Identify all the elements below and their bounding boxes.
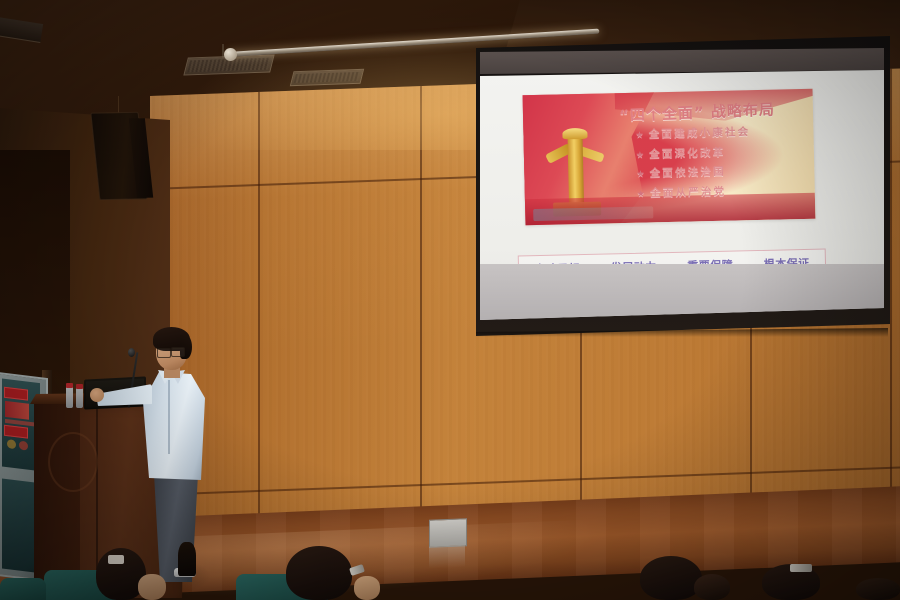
audience-head	[694, 574, 730, 600]
slide-poster-image: “四个全面” 战略布局 ★全面建成小康社会 ★全面深化改革 ★全面依法治国 ★全…	[523, 89, 816, 226]
hair-clip-icon	[790, 564, 812, 572]
projection-screen: “四个全面” 战略布局 ★全面建成小康社会 ★全面深化改革 ★全面依法治国 ★全…	[470, 36, 890, 336]
wall-seam	[420, 86, 422, 566]
water-bottle[interactable]	[76, 387, 83, 408]
slide-bullet-label: 全面依法治国	[650, 166, 726, 180]
poster-foreground-detail	[533, 206, 653, 221]
slide-bullet-list: ★全面建成小康社会 ★全面深化改革 ★全面依法治国 ★全面从严治党	[635, 123, 813, 205]
cabinet-label-icon	[4, 425, 28, 439]
cabinet-symbol-icon	[7, 439, 16, 449]
cabinet-symbol-icon	[19, 441, 28, 451]
audience-face	[354, 576, 380, 600]
presenter-shirt-placket	[168, 380, 170, 454]
monument-column	[567, 132, 584, 208]
slide-content: “四个全面” 战略布局 ★全面建成小康社会 ★全面深化改革 ★全面依法治国 ★全…	[480, 70, 884, 320]
presenter-shirt	[143, 372, 205, 480]
slide-bullet-label: 全面深化改革	[649, 146, 725, 160]
cabinet-label-icon	[4, 387, 28, 401]
slide-bullet: ★全面建成小康社会	[635, 123, 811, 142]
ceiling-vent-icon	[290, 69, 364, 86]
wall-seam	[890, 69, 892, 549]
presenter	[140, 322, 220, 572]
podium-emblem	[48, 432, 98, 492]
star-icon: ★	[635, 131, 646, 141]
screen-surface: “四个全面” 战略布局 ★全面建成小康社会 ★全面深化改革 ★全面依法治国 ★全…	[480, 70, 884, 320]
slide-bullet: ★全面深化改革	[636, 142, 812, 161]
fire-extinguisher-label	[5, 401, 29, 420]
bottle-cap-icon	[76, 384, 83, 389]
microphone-icon	[128, 348, 135, 357]
podium-side-panel	[34, 400, 80, 596]
auditorium-photo: “四个全面” 战略布局 ★全面建成小康社会 ★全面深化改革 ★全面依法治国 ★全…	[0, 0, 900, 600]
slide-bullet: ★全面从严治党	[637, 182, 813, 201]
wall-plate-reflection	[429, 545, 465, 569]
audience-head	[640, 556, 702, 600]
star-icon: ★	[636, 170, 647, 180]
slide-bullet-label: 全面建成小康社会	[649, 126, 751, 140]
wall-seam	[258, 92, 260, 572]
audience-head	[286, 546, 352, 600]
slide-bullet-label: 全面从严治党	[650, 185, 726, 199]
audience-head	[178, 542, 196, 576]
glasses-lens-icon	[171, 347, 185, 357]
screen-top-border	[480, 48, 884, 74]
slide-bullet: ★全面依法治国	[636, 162, 812, 181]
wall-access-plate	[429, 518, 467, 548]
audience-face	[138, 574, 166, 600]
star-icon: ★	[637, 189, 648, 199]
monument-top	[562, 128, 587, 140]
presenter-hand	[90, 388, 104, 402]
star-icon: ★	[636, 150, 647, 160]
bottle-cap-icon	[66, 383, 73, 388]
hair-clip-icon	[108, 555, 124, 564]
audience-head	[856, 578, 900, 600]
chair-back	[0, 578, 46, 600]
water-bottle[interactable]	[66, 386, 73, 408]
glasses-lens-icon	[157, 348, 171, 358]
